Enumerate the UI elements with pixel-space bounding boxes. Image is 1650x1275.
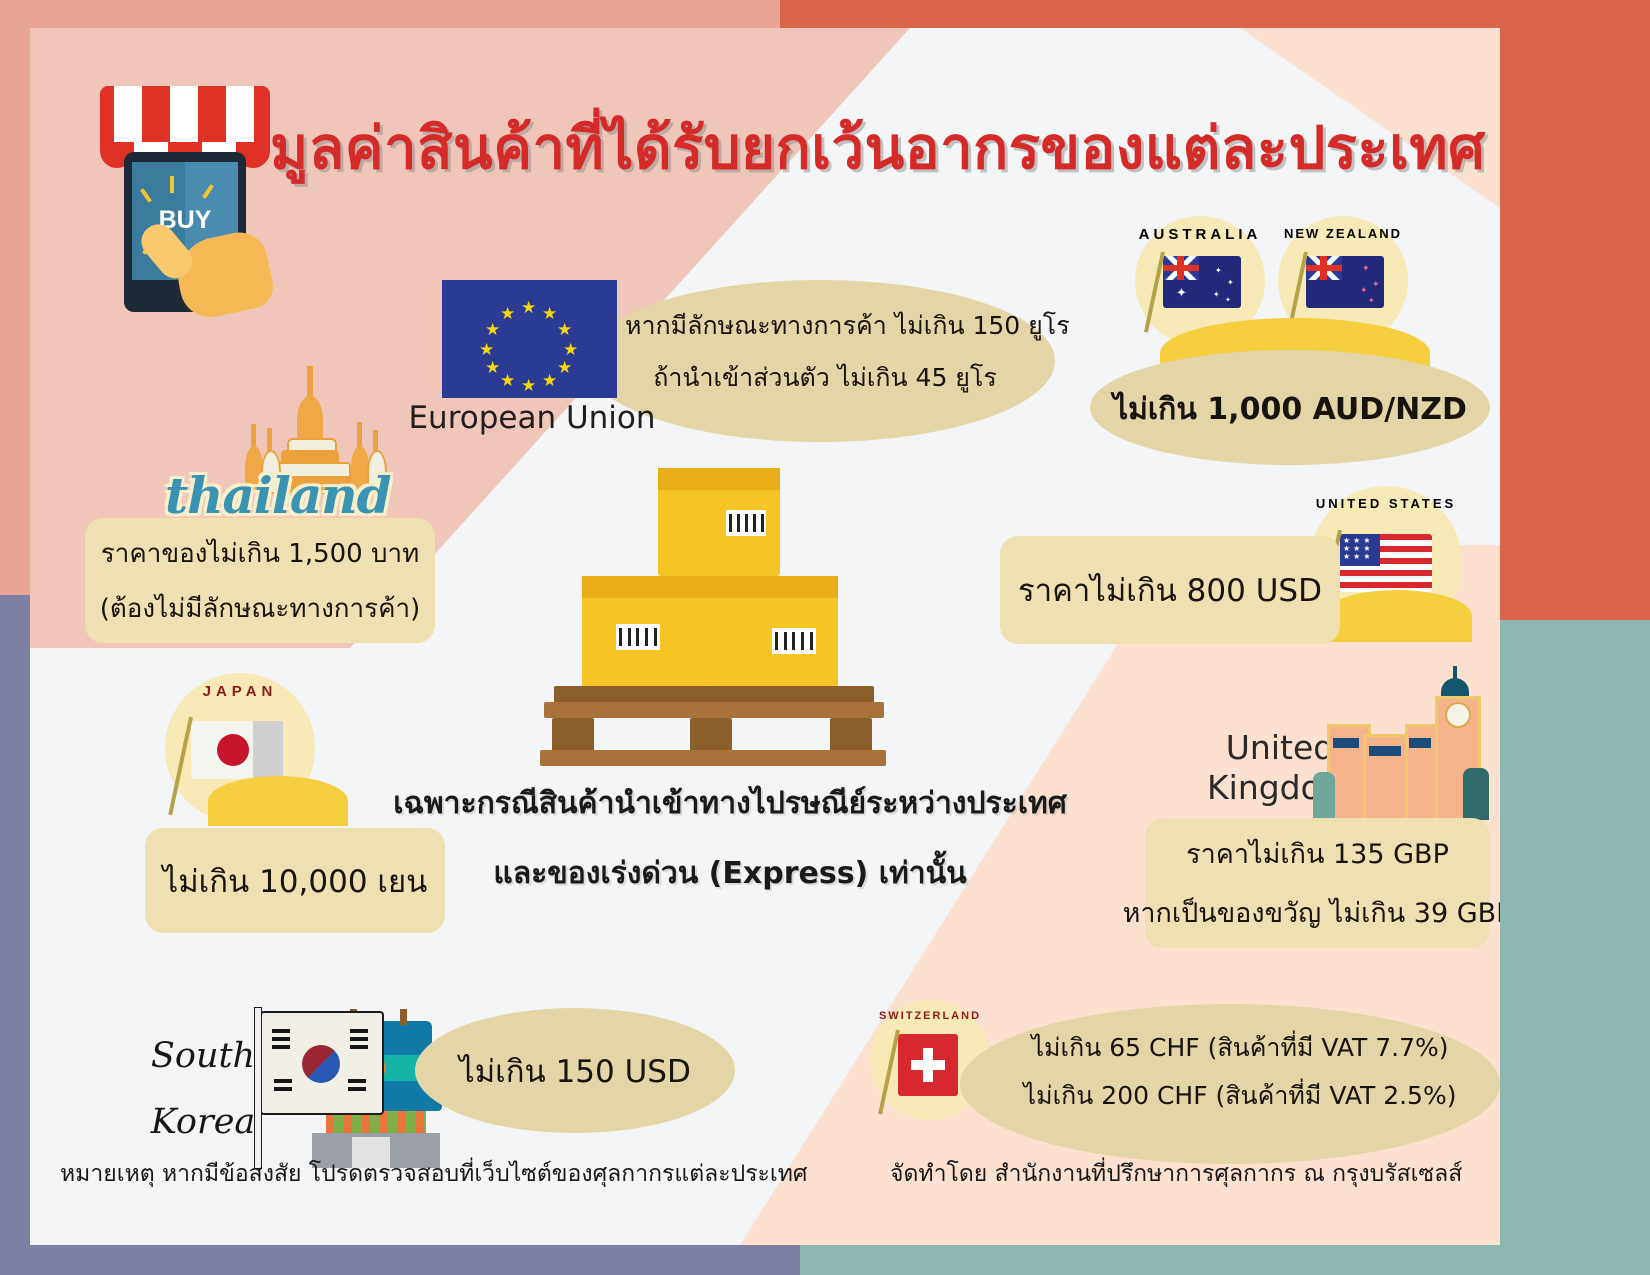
united-kingdom-card: ราคาไม่เกิน 135 GBP หากเป็นของขวัญ ไม่เก… [1145, 818, 1490, 948]
box-left [582, 576, 710, 688]
box-top [658, 468, 780, 576]
australia-nz-line-1: ไม่เกิน 1,000 AUD/NZD [1090, 386, 1490, 433]
pallet-leg-mid [690, 718, 732, 752]
thailand-line-2: (ต้องไม่มีลักษณะทางการค้า) [100, 588, 420, 629]
footer-note: หมายเหตุ หากมีข้อสงสัย โปรดตรวจสอบที่เว็… [60, 1156, 808, 1192]
european-union-label: European Union [402, 400, 662, 436]
big-ben-icon [1305, 676, 1490, 826]
poster-canvas: BUY มูลค่าสินค้าที่ได้รับยกเว้นอากรของแต… [30, 28, 1500, 1245]
frame-band-left-top [0, 0, 30, 595]
switzerland-flag-icon [898, 1034, 958, 1096]
switzerland-badge-label: SWITZERLAND [870, 1010, 990, 1022]
pallet-boxes-illustration [530, 468, 930, 768]
frame-band-right-bottom [1500, 620, 1650, 1275]
center-caption-line-1: เฉพาะกรณีสินค้านำเข้าทางไปรษณีย์ระหว่างป… [370, 780, 1090, 827]
page-title: มูลค่าสินค้าที่ได้รับยกเว้นอากรของแต่ละป… [270, 106, 1480, 190]
buy-shop-icon: BUY [92, 86, 277, 316]
european-union-flag-icon: ★ ★ ★ ★ ★ ★ ★ ★ ★ ★ ★ ★ [442, 280, 617, 398]
footer-credit: จัดทำโดย สำนักงานที่ปรึกษาการศุลกากร ณ ก… [890, 1156, 1462, 1192]
thailand-line-1: ราคาของไม่เกิน 1,500 บาท [101, 533, 419, 574]
center-caption-line-2: และของเร่งด่วน (Express) เท่านั้น [370, 850, 1090, 897]
japan-card: ไม่เกิน 10,000 เยน [145, 828, 445, 933]
frame-band-left-bottom [0, 595, 30, 1275]
united-states-flag-icon: ★★★★★★★★★ [1340, 534, 1432, 592]
awning-icon [100, 86, 270, 148]
united-kingdom-line-1: ราคาไม่เกิน 135 GBP [1186, 832, 1449, 875]
infographic-poster: BUY มูลค่าสินค้าที่ได้รับยกเว้นอากรของแต… [0, 0, 1650, 1275]
pallet-deck-2 [544, 702, 884, 718]
united-states-card: ราคาไม่เกิน 800 USD [1000, 536, 1340, 644]
australia-badge-label: AUSTRALIA [1135, 226, 1265, 243]
united-states-badge-label: UNITED STATES [1310, 496, 1462, 511]
frame-band-bottom-right [800, 1245, 1650, 1275]
united-states-sand [1322, 590, 1472, 642]
switzerland-line-1: ไม่เกิน 65 CHF (สินค้าที่มี VAT 7.7%) [990, 1028, 1490, 1068]
box-right [710, 576, 838, 688]
japan-sand [208, 776, 348, 826]
european-union-line-2: ถ้านำเข้าส่วนตัว ไม่เกิน 45 ยูโร [625, 358, 1025, 398]
pallet-base [540, 750, 886, 766]
european-union-line-1: หากมีลักษณะทางการค้า ไม่เกิน 150 ยูโร [625, 306, 1025, 346]
pallet-leg-right [830, 718, 872, 752]
south-korea-flag-icon [260, 1011, 384, 1115]
united-states-line-1: ราคาไม่เกิน 800 USD [1018, 565, 1322, 615]
australia-flag-icon: ✦ ✦ ✦ ✦ ✦ [1163, 256, 1241, 308]
frame-band-right-top [1500, 0, 1650, 620]
frame-band-top-right [780, 0, 1650, 28]
pallet-leg-left [552, 718, 594, 752]
thailand-card: ราคาของไม่เกิน 1,500 บาท (ต้องไม่มีลักษณ… [85, 518, 435, 643]
new-zealand-badge-label: NEW ZEALAND [1278, 226, 1408, 241]
united-kingdom-line-2: หากเป็นของขวัญ ไม่เกิน 39 GBP [1123, 891, 1500, 934]
thailand-label: thailand [165, 466, 415, 526]
frame-band-bottom-left [0, 1245, 800, 1275]
switzerland-line-2: ไม่เกิน 200 CHF (สินค้าที่มี VAT 2.5%) [990, 1076, 1490, 1116]
south-korea-line-1: ไม่เกิน 150 USD [415, 1046, 735, 1096]
japan-flag-icon [191, 721, 283, 779]
japan-badge-label: JAPAN [165, 683, 315, 700]
new-zealand-flag-icon: ✦ ✦ ✦ ✦ [1306, 256, 1384, 308]
japan-line-1: ไม่เกิน 10,000 เยน [163, 856, 428, 906]
